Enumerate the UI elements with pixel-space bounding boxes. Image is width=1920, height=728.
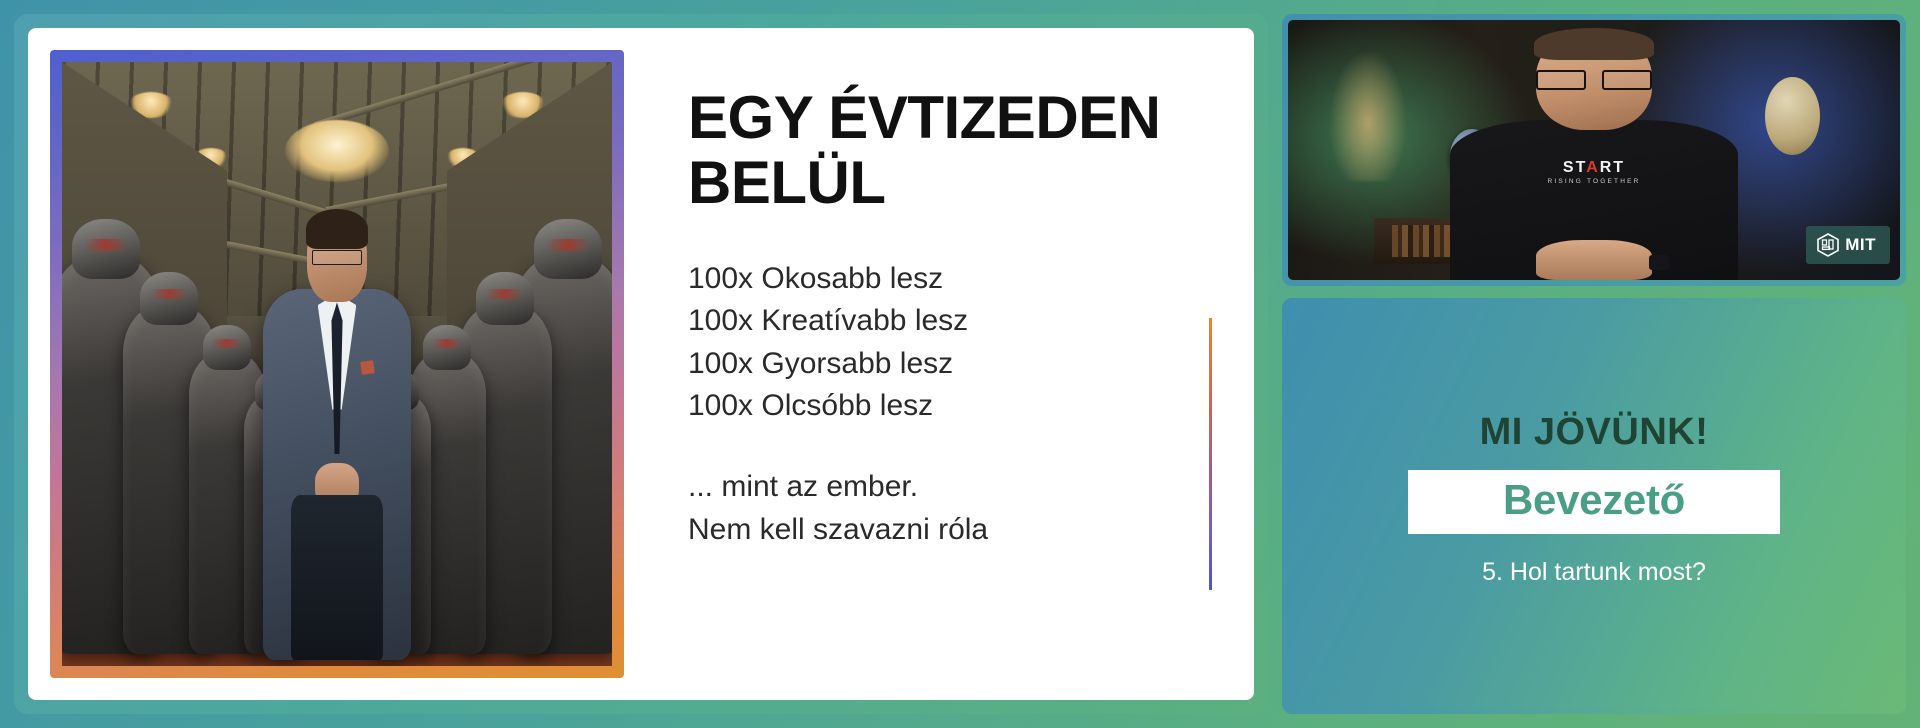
glasses-icon: [312, 250, 362, 265]
tshirt-logo-text: START: [1536, 160, 1651, 176]
slide-bullet-list: 100x Okosabb lesz 100x Kreatívabb lesz 1…: [688, 258, 1214, 428]
ceiling-lamp-main: [285, 120, 389, 182]
hexagon-logo-icon: [1817, 233, 1839, 257]
agenda-badge: Bevezető: [1408, 470, 1780, 534]
tshirt-logo-end: RT: [1600, 159, 1625, 176]
wristwatch: [1649, 255, 1669, 270]
right-column: START RISING TOGETHER: [1282, 14, 1906, 714]
outro-line: Nem kell szavazni róla: [688, 509, 1214, 552]
hands: [1536, 240, 1651, 280]
webcam-tile[interactable]: START RISING TOGETHER: [1282, 14, 1906, 286]
slide-title: EGY ÉVTIZEDEN BELÜL: [688, 86, 1208, 216]
rocket-icon: A: [1586, 159, 1600, 176]
watermark-badge: MIT: [1806, 226, 1890, 264]
list-item: 100x Okosabb lesz: [688, 258, 1214, 301]
slide-outro-block: ... mint az ember. Nem kell szavazni ról…: [688, 466, 1214, 551]
slide-text-column: EGY ÉVTIZEDEN BELÜL 100x Okosabb lesz 10…: [624, 28, 1254, 700]
legs: [291, 495, 383, 660]
agenda-tile: MI JÖVÜNK! Bevezető 5. Hol tartunk most?: [1282, 298, 1906, 714]
pampas-plant: [1319, 36, 1417, 182]
list-item: 100x Kreatívabb lesz: [688, 300, 1214, 343]
agenda-subtitle: 5. Hol tartunk most?: [1482, 558, 1706, 587]
hair: [1534, 28, 1655, 60]
list-item: 100x Gyorsabb lesz: [688, 343, 1214, 386]
webcam-video[interactable]: START RISING TOGETHER: [1288, 20, 1900, 280]
slide-card: EGY ÉVTIZEDEN BELÜL 100x Okosabb lesz 10…: [28, 28, 1254, 700]
agenda-badge-text: Bevezető: [1503, 476, 1685, 523]
tshirt-tagline: RISING TOGETHER: [1536, 179, 1651, 186]
agenda-inner: MI JÖVÜNK! Bevezető 5. Hol tartunk most?: [1288, 304, 1900, 708]
accent-divider: [1209, 318, 1212, 590]
list-item: 100x Olcsóbb lesz: [688, 385, 1214, 428]
tshirt-logo: START RISING TOGETHER: [1536, 160, 1651, 186]
agenda-heading: MI JÖVÜNK!: [1480, 411, 1709, 454]
pocket-square: [360, 360, 375, 375]
figure-gradient-border: [50, 50, 624, 678]
presenter: START RISING TOGETHER: [1450, 30, 1738, 280]
tshirt-logo-start: ST: [1563, 159, 1586, 176]
businessman-figure: [263, 213, 412, 660]
presentation-stage: EGY ÉVTIZEDEN BELÜL 100x Okosabb lesz 10…: [0, 0, 1920, 728]
robots-corridor-illustration: [62, 62, 612, 666]
outro-line: ... mint az ember.: [688, 466, 1214, 509]
watermark-text: MIT: [1845, 235, 1876, 255]
hair: [306, 209, 368, 249]
slide-panel: EGY ÉVTIZEDEN BELÜL 100x Okosabb lesz 10…: [14, 14, 1268, 714]
glasses-icon: [1536, 70, 1651, 90]
slide-figure: [28, 28, 624, 700]
